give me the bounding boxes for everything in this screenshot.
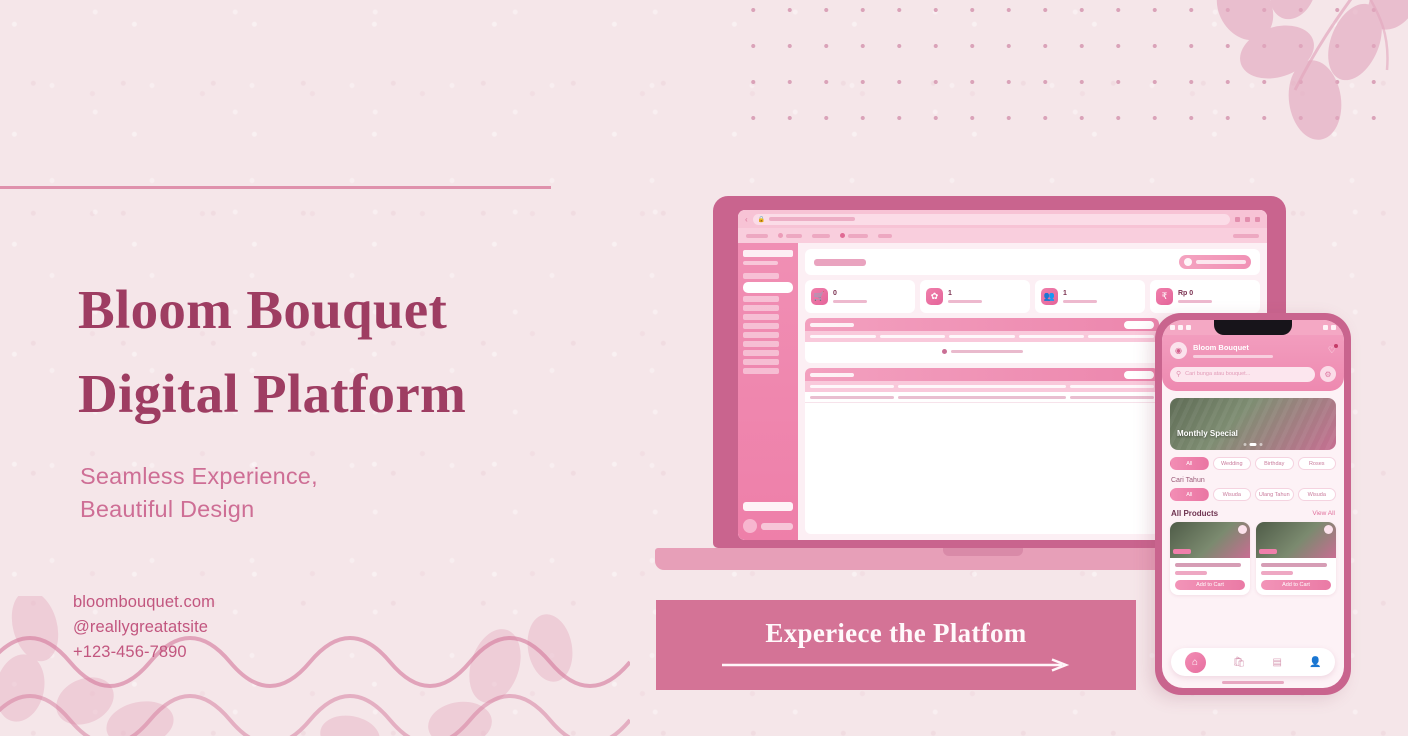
chip-all[interactable]: All — [1170, 457, 1209, 470]
poster-canvas: Bloom Bouquet Digital Platform Seamless … — [0, 0, 1408, 736]
column-header — [810, 385, 894, 388]
stat-label — [948, 300, 982, 303]
bookmark-item[interactable] — [1233, 234, 1259, 238]
chip2-ulangtahun[interactable]: Ulang Tahun — [1255, 488, 1294, 501]
subheadline: Seamless Experience, Beautiful Design — [80, 460, 500, 527]
add-to-cart-button[interactable]: Add to Cart — [1261, 580, 1331, 590]
add-to-cart-button[interactable]: Add to Cart — [1175, 580, 1245, 590]
sidebar-brand — [743, 250, 793, 257]
filter-icon[interactable]: ⚙ — [1320, 366, 1336, 382]
sidebar-item-settings[interactable] — [743, 368, 779, 374]
heart-icon[interactable] — [1324, 525, 1333, 534]
heart-icon[interactable] — [1238, 525, 1247, 534]
bookmark-item[interactable] — [878, 234, 892, 238]
table-row[interactable] — [805, 392, 1159, 403]
status-right-icons — [1323, 325, 1336, 330]
cta-banner[interactable]: Experiece the Platfom — [656, 600, 1136, 690]
category-label: Cari Tahun — [1162, 470, 1344, 484]
product-title — [1175, 563, 1241, 567]
orders-table-header — [805, 331, 1159, 342]
sidebar-item-orders[interactable] — [743, 296, 779, 302]
orders-card-header — [805, 318, 1159, 331]
column-header — [1088, 335, 1154, 338]
promo-banner[interactable]: Monthly Special — [1170, 398, 1336, 450]
stat-label — [1063, 300, 1097, 303]
column-header — [949, 335, 1015, 338]
stat-label — [1178, 300, 1212, 303]
url-text — [769, 217, 855, 221]
stat-value: 0 — [833, 290, 867, 298]
sidebar-item-messages[interactable] — [743, 341, 779, 347]
sidebar-item-menu[interactable] — [743, 273, 779, 279]
bookmark-item[interactable] — [840, 233, 868, 238]
phone-header-row: ◉ Bloom Bouquet ♡ — [1170, 342, 1336, 359]
app-brand-title: Bloom Bouquet — [1193, 343, 1273, 352]
avatar — [743, 519, 757, 533]
dot-grid-decoration — [735, 0, 1408, 142]
column-header — [1070, 385, 1154, 388]
orders-empty-text — [951, 350, 1023, 353]
phone-notch — [1214, 320, 1292, 335]
cta-label: Experiece the Platfom — [765, 618, 1026, 649]
bookmarks-bar[interactable] — [738, 228, 1267, 243]
bookmark-item[interactable] — [746, 234, 768, 238]
notification-badge — [1334, 344, 1338, 348]
sidebar-item-cart[interactable] — [743, 350, 779, 356]
money-icon: ₹ — [1156, 288, 1173, 305]
info-icon — [942, 349, 947, 354]
user-name — [761, 523, 793, 530]
users-icon: 👥 — [1041, 288, 1058, 305]
stat-card[interactable]: 👥 1 — [1035, 280, 1145, 313]
subheadline-line-2: Beautiful Design — [80, 493, 500, 526]
stat-value: 1 — [948, 290, 982, 298]
sidebar-user[interactable] — [743, 519, 793, 533]
dashboard-topbar — [805, 249, 1260, 275]
product-image — [1256, 522, 1336, 558]
orders-empty-state — [805, 342, 1159, 360]
home-indicator — [1222, 681, 1284, 684]
battery-icon — [1186, 325, 1191, 330]
phone-search-row: ⚲ Cari bunga atau bouquet... ⚙ — [1170, 366, 1336, 382]
carousel-dots[interactable] — [1244, 443, 1263, 446]
sidebar-item-report[interactable] — [743, 359, 779, 365]
heart-icon — [1323, 325, 1328, 330]
status-left-icons — [1170, 325, 1191, 330]
plus-icon — [1184, 258, 1192, 266]
close-icon[interactable] — [1255, 217, 1260, 222]
carousel-dot-active[interactable] — [1250, 443, 1257, 446]
chip-wedding[interactable]: Wedding — [1213, 457, 1252, 470]
flower-icon: ✿ — [926, 288, 943, 305]
stat-value: Rp 0 — [1178, 290, 1212, 298]
category-chip-row-2: All Wisuda Ulang Tahun Wisuda — [1162, 484, 1344, 501]
contact-handle[interactable]: @reallygreatatsite — [73, 615, 215, 640]
product-title — [1261, 563, 1327, 567]
customers-table-header — [805, 381, 1159, 392]
cell-date — [1070, 396, 1154, 399]
stat-label — [833, 300, 867, 303]
category-chip-row: All Wedding Birthday Roses — [1162, 450, 1344, 470]
divider-rule — [0, 186, 551, 189]
window-controls[interactable] — [1235, 217, 1260, 222]
cart-icon: 🛒 — [811, 288, 828, 305]
banner-text: Monthly Special — [1177, 429, 1238, 438]
phone-mockup: ◉ Bloom Bouquet ♡ ⚲ Cari bunga atau bouq… — [1155, 313, 1351, 695]
phone-screen: ◉ Bloom Bouquet ♡ ⚲ Cari bunga atau bouq… — [1162, 320, 1344, 688]
sidebar-brand-subtitle — [743, 261, 778, 265]
bag-icon[interactable]: 🛍 — [1233, 657, 1246, 668]
app-brand-subtitle — [1193, 355, 1273, 358]
new-bouquet-button[interactable] — [1179, 255, 1251, 269]
contact-block: bloombouquet.com @reallygreatatsite +123… — [73, 590, 215, 666]
section-title: All Products — [1171, 509, 1218, 518]
stat-card[interactable]: ✿ 1 — [920, 280, 1030, 313]
wifi-icon — [1178, 325, 1183, 330]
contact-phone[interactable]: +123-456-7890 — [73, 640, 215, 665]
browser-url-bar: ‹ 🔒 — [738, 210, 1267, 228]
chip-birthday[interactable]: Birthday — [1255, 457, 1294, 470]
carousel-dot[interactable] — [1260, 443, 1263, 446]
chip2-wisuda[interactable]: Wisuda — [1213, 488, 1252, 501]
phone-app-header: ◉ Bloom Bouquet ♡ ⚲ Cari bunga atau bouq… — [1162, 335, 1344, 391]
carousel-dot[interactable] — [1244, 443, 1247, 446]
customers-card-title — [810, 373, 854, 377]
product-tag — [1173, 549, 1191, 554]
maximize-icon[interactable] — [1245, 217, 1250, 222]
customers-view-all-button[interactable] — [1124, 371, 1154, 379]
column-header — [898, 385, 1066, 388]
column-header — [880, 335, 946, 338]
orders-card-title — [810, 323, 854, 327]
signal-icon — [1170, 325, 1175, 330]
customers-card-header — [805, 368, 1159, 381]
subheadline-line-1: Seamless Experience, — [80, 460, 500, 493]
search-icon: ⚲ — [1176, 370, 1181, 378]
bookmark-item[interactable] — [778, 233, 802, 238]
stat-card[interactable]: ₹ Rp 0 — [1150, 280, 1260, 313]
sidebar-item-dashboard[interactable] — [743, 282, 793, 293]
long-arrow-right-icon — [722, 658, 1070, 672]
url-input[interactable]: 🔒 — [753, 214, 1230, 225]
orders-view-all-button[interactable] — [1124, 321, 1154, 329]
logout-button[interactable] — [743, 502, 793, 511]
lock-icon: 🔒 — [758, 216, 765, 223]
sidebar-item-bouquets[interactable] — [743, 314, 779, 320]
column-header — [1019, 335, 1085, 338]
headline-line-2: Digital Platform — [78, 352, 638, 436]
stat-value: 1 — [1063, 290, 1097, 298]
chip2-wisuda-2[interactable]: Wisuda — [1298, 488, 1337, 501]
back-icon[interactable]: ‹ — [745, 215, 748, 224]
bottom-navigation[interactable]: ⌂ 🛍 ▤ 👤 — [1171, 648, 1335, 676]
stat-card-row: 🛒 0 ✿ 1 👥 1 — [805, 280, 1260, 313]
orders-card — [805, 318, 1159, 363]
customers-card — [805, 368, 1159, 534]
product-price — [1261, 571, 1293, 575]
product-tag — [1259, 549, 1277, 554]
cell-name — [810, 396, 894, 399]
cell-email — [898, 396, 1066, 399]
chip-roses[interactable]: Roses — [1298, 457, 1337, 470]
product-grid: Add to Cart Add to Cart — [1162, 522, 1344, 595]
bell-icon[interactable]: ♡ — [1328, 345, 1336, 356]
search-input[interactable]: ⚲ Cari bunga atau bouquet... — [1170, 367, 1315, 382]
product-card[interactable]: Add to Cart — [1170, 522, 1250, 595]
search-placeholder: Cari bunga atau bouquet... — [1185, 371, 1250, 377]
products-section-header: All Products View All — [1162, 501, 1344, 522]
product-price — [1175, 571, 1207, 575]
dashboard-sidebar[interactable] — [738, 243, 798, 540]
bell-icon — [1331, 325, 1336, 330]
headline-line-1: Bloom Bouquet — [78, 279, 447, 340]
chip2-all[interactable]: All — [1170, 488, 1209, 501]
sidebar-item-promo[interactable] — [743, 332, 779, 338]
new-bouquet-label — [1196, 260, 1246, 264]
contact-website[interactable]: bloombouquet.com — [73, 590, 215, 615]
sidebar-item-customers[interactable] — [743, 323, 779, 329]
bookmark-item[interactable] — [812, 234, 830, 238]
sidebar-item-products[interactable] — [743, 305, 779, 311]
laptop-base-notch — [943, 548, 1023, 556]
stat-card[interactable]: 🛒 0 — [805, 280, 915, 313]
product-card[interactable]: Add to Cart — [1256, 522, 1336, 595]
user-avatar-icon[interactable]: ◉ — [1170, 342, 1187, 359]
home-icon[interactable]: ⌂ — [1185, 652, 1206, 673]
product-image — [1170, 522, 1250, 558]
view-all-link[interactable]: View All — [1312, 510, 1335, 517]
person-icon[interactable]: 👤 — [1309, 657, 1321, 668]
minimize-icon[interactable] — [1235, 217, 1240, 222]
column-header — [810, 335, 876, 338]
dashboard-page-title — [814, 259, 866, 266]
page-title: Bloom Bouquet Digital Platform — [78, 268, 638, 435]
card-icon[interactable]: ▤ — [1272, 657, 1281, 668]
